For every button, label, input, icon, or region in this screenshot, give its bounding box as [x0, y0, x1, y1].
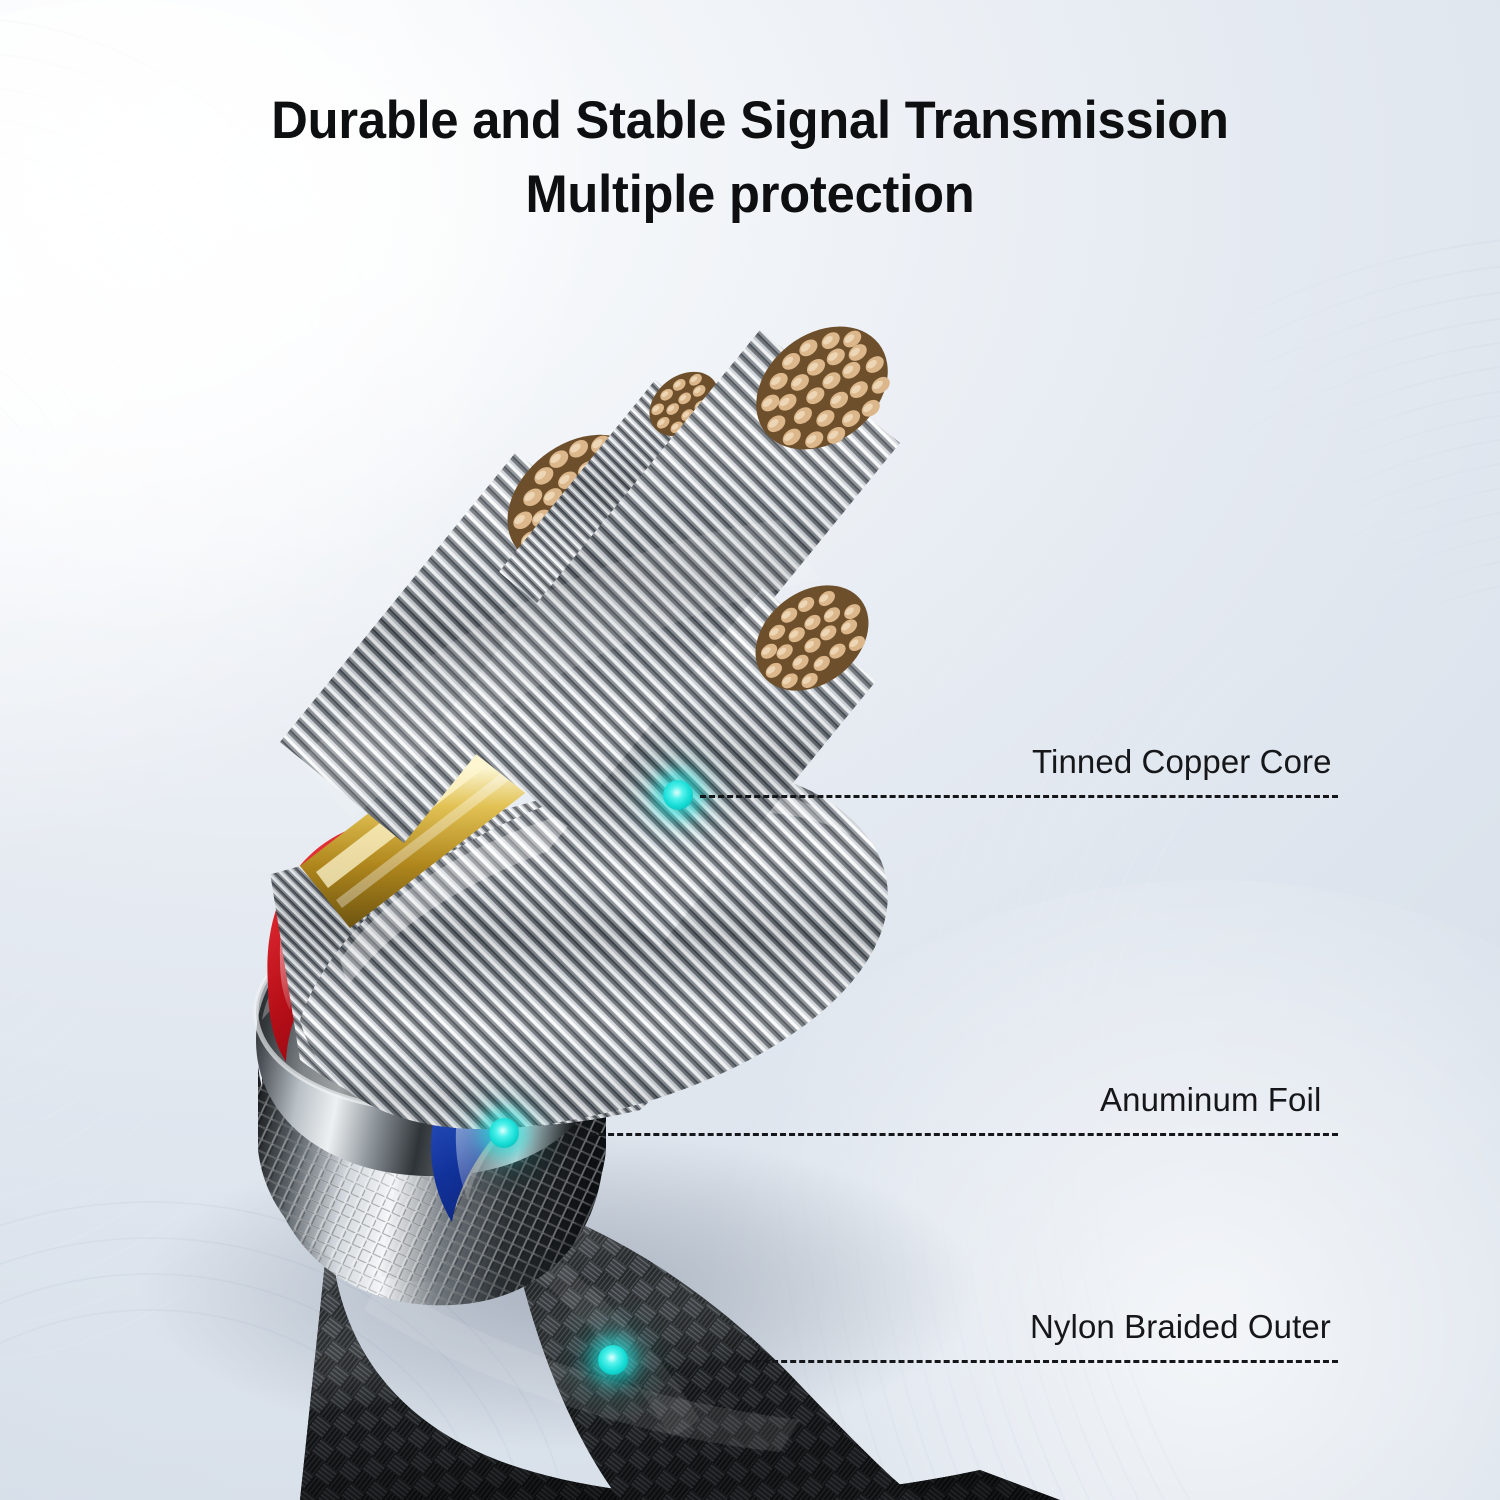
headline-line-2: Multiple protection	[34, 158, 1467, 232]
callout-dot-nylon-braided-outer	[598, 1345, 628, 1375]
callout-label-nylon-braided-outer: Nylon Braided Outer	[1030, 1310, 1331, 1343]
headline-block: Durable and Stable Signal Transmission M…	[0, 84, 1500, 232]
callout-label-aluminum-foil: Anuminum Foil	[1100, 1083, 1321, 1116]
leader-line-nylon-braided-outer	[745, 1360, 1338, 1363]
leader-line-aluminum-foil	[590, 1133, 1338, 1136]
callout-label-tinned-copper-core: Tinned Copper Core	[1032, 745, 1332, 778]
callout-dot-aluminum-foil	[489, 1118, 519, 1148]
leader-line-tinned-copper-core	[700, 795, 1338, 798]
callout-dot-tinned-copper-core	[663, 780, 693, 810]
infographic-canvas: Durable and Stable Signal Transmission M…	[0, 0, 1500, 1500]
headline-line-1: Durable and Stable Signal Transmission	[34, 84, 1467, 158]
